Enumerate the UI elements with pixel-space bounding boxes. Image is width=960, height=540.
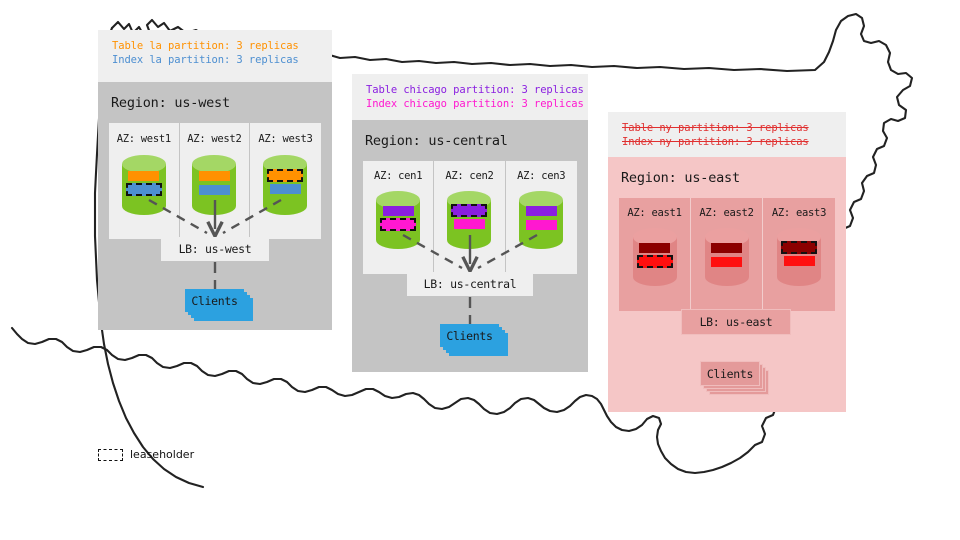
region-panel-us-west: Table la partition: 3 replicas Index la … — [98, 30, 332, 330]
diagram-canvas: Table la partition: 3 replicas Index la … — [0, 0, 960, 540]
legend-leaseholder-label: leaseholder — [130, 448, 194, 461]
replica-band-table-east2 — [711, 243, 742, 253]
replica-band-index-east3 — [784, 256, 815, 266]
partition-line-index: Index la partition: 3 replicas — [112, 53, 320, 67]
region-title-us-east: Region: us-east — [621, 170, 740, 186]
az-label-cen3: AZ: cen3 — [517, 170, 565, 182]
az-label-west3: AZ: west3 — [258, 133, 312, 145]
az-to-lb-arrows-us-west — [109, 195, 321, 243]
load-balancer-us-east[interactable]: LB: us-east — [681, 309, 791, 335]
leaseholder-swatch-icon — [98, 449, 123, 461]
replica-band-index-west2 — [199, 185, 230, 195]
region-body-us-west: Region: us-west AZ: west1 — [98, 82, 332, 330]
replica-band-table-cen3 — [526, 206, 557, 216]
load-balancer-us-central[interactable]: LB: us-central — [407, 272, 533, 296]
partition-legend-us-east: Table ny partition: 3 replicas Index ny … — [608, 112, 846, 157]
replica-band-table-east1 — [639, 243, 670, 253]
az-label-cen2: AZ: cen2 — [445, 170, 493, 182]
clients-box-us-central[interactable]: Clients — [440, 324, 499, 347]
region-panel-us-central: Table chicago partition: 3 replicas Inde… — [352, 74, 588, 372]
az-to-lb-arrows-us-central — [363, 230, 577, 278]
az-strip-us-east: AZ: east1 AZ: east2 — [619, 198, 835, 311]
partition-line-index: Index chicago partition: 3 replicas — [366, 97, 576, 111]
database-cylinder-east1[interactable] — [632, 227, 678, 287]
database-cylinder-east3[interactable] — [776, 227, 822, 287]
clients-stack-us-central[interactable]: Clients — [440, 324, 508, 356]
partition-line-index: Index ny partition: 3 replicas — [622, 135, 834, 149]
region-title-us-central: Region: us-central — [365, 133, 508, 149]
region-title-us-west: Region: us-west — [111, 95, 230, 111]
replica-band-table-west1 — [128, 171, 159, 181]
partition-line-table: Table ny partition: 3 replicas — [622, 121, 834, 135]
az-cell-east3[interactable]: AZ: east3 — [763, 198, 835, 311]
replica-band-index-west3 — [270, 184, 301, 194]
region-panel-us-east: Table ny partition: 3 replicas Index ny … — [608, 112, 846, 412]
region-body-us-central: Region: us-central AZ: cen1 — [352, 120, 588, 372]
az-label-cen1: AZ: cen1 — [374, 170, 422, 182]
partition-line-table: Table la partition: 3 replicas — [112, 39, 320, 53]
az-label-east3: AZ: east3 — [772, 207, 826, 219]
az-label-east2: AZ: east2 — [699, 207, 753, 219]
replica-band-table-east3-leaseholder — [781, 241, 817, 254]
clients-box-us-west[interactable]: Clients — [185, 289, 244, 312]
replica-band-table-west2 — [199, 171, 230, 181]
replica-band-index-east1-leaseholder — [637, 255, 673, 268]
replica-band-table-west3-leaseholder — [267, 169, 303, 182]
partition-legend-us-west: Table la partition: 3 replicas Index la … — [98, 30, 332, 82]
replica-band-index-cen3 — [526, 220, 557, 230]
replica-band-table-cen2-leaseholder — [451, 204, 487, 217]
az-label-east1: AZ: east1 — [627, 207, 681, 219]
legend-leaseholder: leaseholder — [98, 448, 194, 461]
clients-box-us-east[interactable]: Clients — [700, 361, 760, 386]
load-balancer-us-west[interactable]: LB: us-west — [161, 237, 269, 261]
az-label-west2: AZ: west2 — [187, 133, 241, 145]
replica-band-table-cen1 — [383, 206, 414, 216]
az-label-west1: AZ: west1 — [117, 133, 171, 145]
replica-band-index-cen2 — [454, 219, 485, 229]
replica-band-index-east2 — [711, 257, 742, 267]
partition-legend-us-central: Table chicago partition: 3 replicas Inde… — [352, 74, 588, 120]
database-cylinder-east2[interactable] — [704, 227, 750, 287]
az-cell-east1[interactable]: AZ: east1 — [619, 198, 691, 311]
az-cell-east2[interactable]: AZ: east2 — [691, 198, 763, 311]
region-body-us-east: Region: us-east AZ: east1 — [608, 157, 846, 412]
clients-stack-us-east[interactable]: Clients — [700, 361, 770, 395]
clients-stack-us-west[interactable]: Clients — [185, 289, 253, 321]
partition-line-table: Table chicago partition: 3 replicas — [366, 83, 576, 97]
